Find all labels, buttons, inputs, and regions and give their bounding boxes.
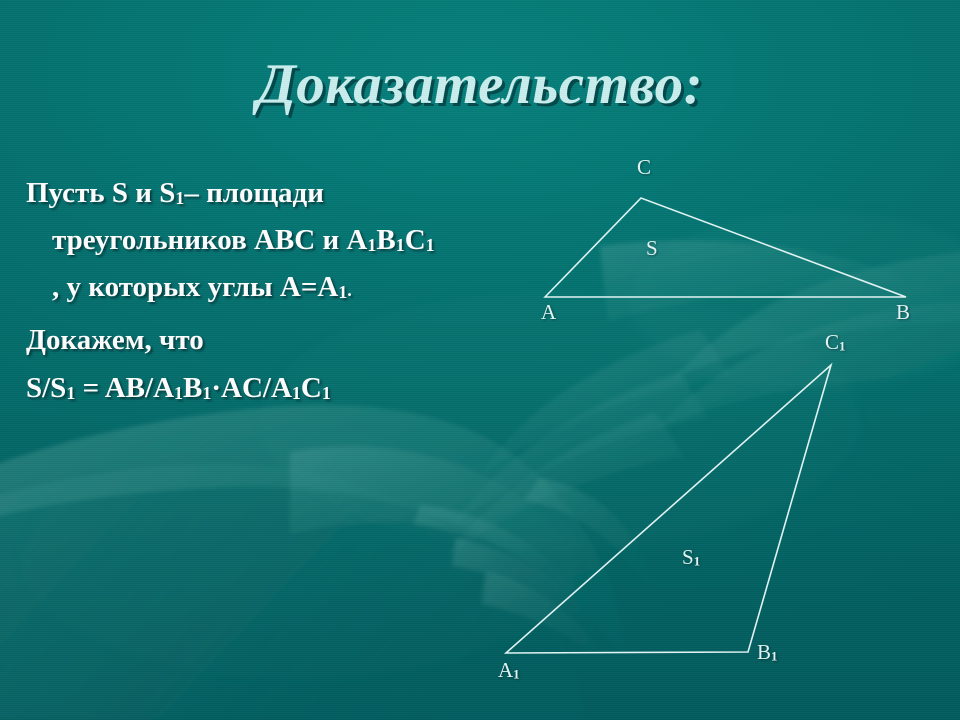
vertex-label-a1: A1 [498,658,520,683]
statement-sub-1: 1 [175,188,184,208]
formula-part-5: C [301,372,322,404]
formula-sub-3: 1 [202,384,211,404]
formula-sub-2: 1 [174,384,183,404]
vertex-label-b1: B1 [757,640,778,665]
area-label-s: S [646,236,658,261]
formula-sub-1: 1 [66,384,75,404]
vertex-label-c1: C1 [825,330,846,355]
formula-sub-5: 1 [322,384,331,404]
statement-part-1: Пусть S и S [26,177,175,209]
statement-sub-5: 1 [338,282,347,302]
formula-sub-4: 1 [292,384,301,404]
formula-part-2: = AB/A [75,372,174,404]
statement-period: . [347,280,351,300]
statement-sub-3: 1 [396,235,405,255]
formula-part-3: B [183,372,202,404]
formula-part-1: S/S [26,372,66,404]
prove-paragraph: Докажем, что [26,319,446,361]
formula-part-4: ·AC/A [211,372,292,404]
statement-part-3: B [376,224,395,256]
vertex-label-a: A [541,300,556,325]
body-text-block: Пусть S и S1– площади треугольников ABC … [26,172,446,415]
statement-sub-2: 1 [367,235,376,255]
slide-canvas: Доказательство: Пусть S и S1– площади тр… [0,0,960,720]
vertex-label-c: C [637,155,651,180]
area-label-s1: S1 [682,545,700,570]
statement-part-4: C [405,224,426,256]
statement-part-5: , у которых углы A=A [52,271,338,303]
statement-paragraph: Пусть S и S1– площади треугольников ABC … [26,172,446,313]
vertex-label-b: B [896,300,910,325]
page-title: Доказательство: [0,52,960,117]
formula-paragraph: S/S1 = AB/A1B1·AC/A1C1 [26,367,446,414]
statement-sub-4: 1 [426,235,435,255]
